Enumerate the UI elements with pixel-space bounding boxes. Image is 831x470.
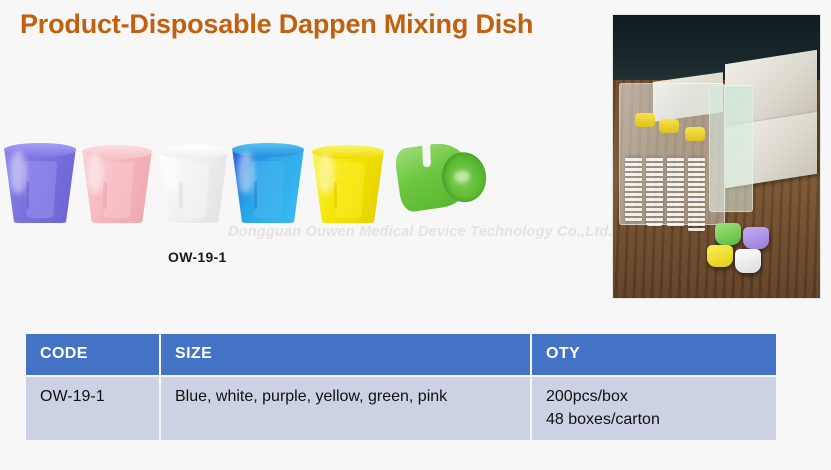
cup-gloss	[88, 153, 103, 194]
cup-slot	[254, 181, 258, 208]
cup-gloss	[10, 151, 26, 193]
cell-size: Blue, white, purple, yellow, green, pink	[161, 377, 530, 440]
cell-qty: 200pcs/box 48 boxes/carton	[532, 377, 776, 440]
cup-stack	[688, 156, 705, 232]
cup-gloss	[318, 153, 334, 194]
column-header-size: SIZE	[161, 334, 530, 375]
yellow-cup-in-bag	[635, 113, 655, 127]
page-title: Product-Disposable Dappen Mixing Dish	[20, 4, 590, 44]
company-watermark: Dongguan Ouwen Medical Device Technology…	[228, 224, 613, 240]
yellow-cup	[312, 145, 384, 223]
pink-cup	[82, 145, 152, 223]
product-image	[0, 108, 510, 223]
cup-gloss	[164, 153, 179, 194]
packaging-image	[613, 15, 820, 298]
cell-qty-line-1: 200pcs/box	[546, 385, 768, 408]
cup-stack	[625, 156, 642, 222]
yellow-cup-in-bag	[659, 119, 679, 133]
yellow-cup-in-bag	[685, 127, 705, 141]
column-header-code: CODE	[26, 334, 159, 375]
product-spec-table: CODE SIZE OTY OW-19-1 Blue, white, purpl…	[24, 332, 778, 442]
cup-gloss	[238, 151, 254, 193]
loose-yellow-cup	[707, 245, 733, 267]
table-header-row: CODE SIZE OTY	[26, 334, 776, 375]
cup-slot	[422, 141, 431, 167]
product-code-caption: OW-19-1	[168, 249, 227, 265]
cup-slot	[26, 181, 30, 208]
cup-stack	[646, 156, 663, 226]
cup-slot	[334, 182, 338, 209]
cup-slot	[103, 182, 107, 209]
cup-stack	[667, 156, 684, 228]
column-header-qty: OTY	[532, 334, 776, 375]
blue-cup	[232, 143, 304, 223]
loose-purple-cup	[743, 227, 769, 249]
purple-cup	[4, 143, 76, 223]
product-slide: Product-Disposable Dappen Mixing Dish	[0, 0, 831, 470]
white-cup	[158, 145, 228, 223]
cup-slot	[179, 182, 183, 209]
table-row: OW-19-1 Blue, white, purple, yellow, gre…	[26, 377, 776, 440]
cell-qty-line-2: 48 boxes/carton	[546, 408, 768, 431]
loose-green-cup	[715, 223, 741, 245]
cell-code: OW-19-1	[26, 377, 159, 440]
loose-white-cup	[735, 249, 761, 273]
green-cup	[393, 131, 496, 225]
